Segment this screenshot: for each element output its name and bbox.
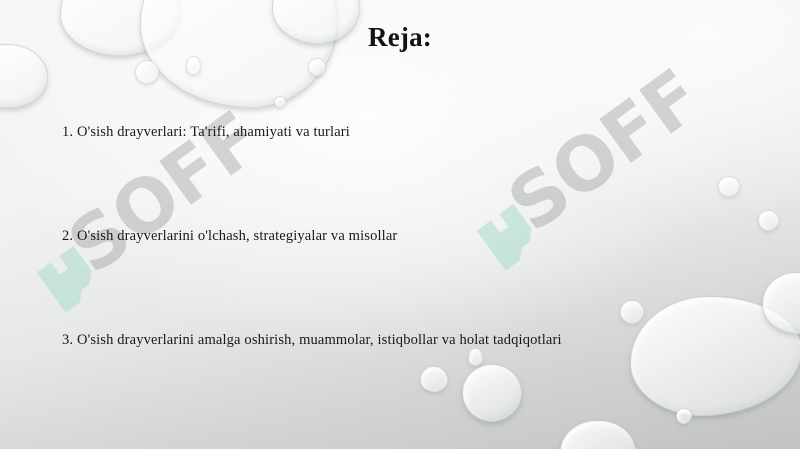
agenda-item-2: 2. O'sish drayverlarini o'lchash, strate… [62, 228, 397, 245]
droplet [308, 58, 326, 76]
droplet [186, 56, 201, 75]
slide-canvas: SOFF SOFF Reja: 1. O'sish drayverlari: T… [0, 0, 800, 449]
watermark-right: SOFF [493, 54, 716, 249]
droplet [620, 300, 644, 324]
droplet [274, 96, 286, 108]
droplet [468, 348, 483, 366]
droplet [0, 44, 48, 108]
u-arrow-logo-icon [25, 235, 117, 327]
watermark-text: SOFF [493, 54, 716, 249]
droplet [676, 408, 692, 424]
droplet [560, 420, 636, 449]
droplet [758, 210, 779, 231]
agenda-item-1: 1. O'sish drayverlari: Ta'rifi, ahamiyat… [62, 124, 350, 141]
agenda-item-3: 3. O'sish drayverlarini amalga oshirish,… [62, 332, 562, 349]
droplet [462, 364, 522, 422]
u-arrow-logo-icon [465, 193, 557, 285]
droplet [135, 60, 159, 84]
slide-title: Reja: [0, 22, 800, 53]
droplet [420, 366, 448, 392]
droplet [718, 176, 740, 197]
